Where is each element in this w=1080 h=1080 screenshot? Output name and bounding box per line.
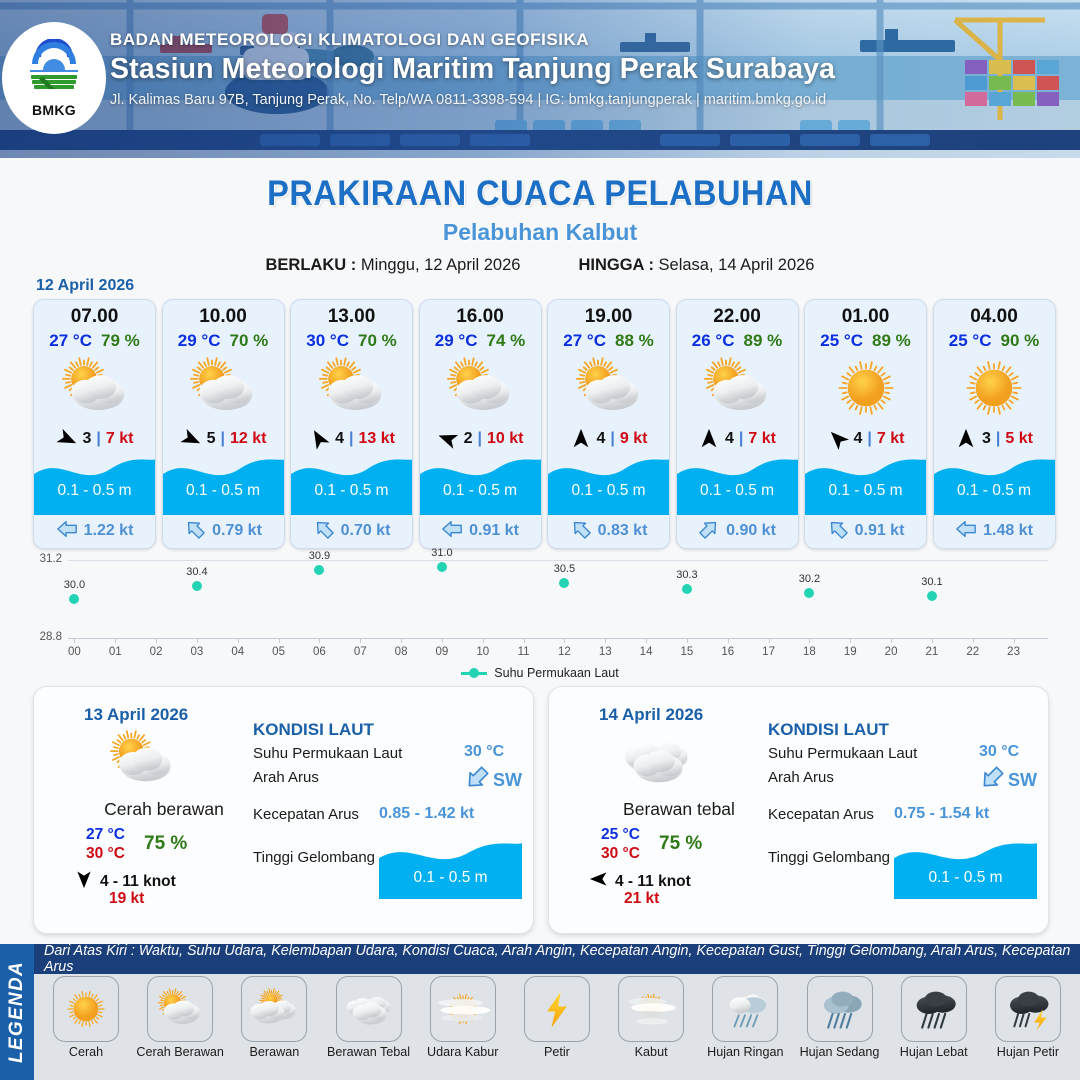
x-axis-tick-label: 04 <box>231 646 244 658</box>
x-axis-tick-label: 07 <box>354 646 367 658</box>
card-divider: | <box>996 430 1000 448</box>
data-point <box>69 594 79 604</box>
panel-wave-value: 0.1 - 0.5 m <box>894 869 1037 887</box>
panel-sea-title: KONDISI LAUT <box>768 720 889 740</box>
current-arrow-icon <box>979 765 1005 796</box>
card-time: 01.00 <box>805 306 926 328</box>
card-humidity: 88 % <box>615 331 654 351</box>
x-axis-tick <box>809 638 810 643</box>
legend-item-label: Cerah Berawan <box>136 1046 224 1059</box>
current-arrow-icon <box>698 518 720 545</box>
current-arrow-icon <box>570 518 592 545</box>
current-arrow-icon <box>464 765 490 796</box>
cerah-berawan-icon <box>291 353 412 424</box>
panel-current-dir-value: SW <box>464 765 522 796</box>
panel-gust: 19 kt <box>109 890 144 908</box>
wind-arrow-icon <box>955 428 977 450</box>
card-wind-row: 2 | 10 kt <box>420 424 541 454</box>
x-axis-tick-label: 09 <box>436 646 449 658</box>
legend-item-label: Hujan Sedang <box>800 1046 880 1059</box>
data-point <box>437 562 447 572</box>
card-temperature: 29 °C <box>178 331 221 351</box>
hujan-ringan-icon <box>712 976 778 1042</box>
card-time: 22.00 <box>677 306 798 328</box>
legend-item-label: Cerah <box>69 1046 103 1059</box>
panel-gust: 21 kt <box>624 890 659 908</box>
x-axis-tick <box>115 638 116 643</box>
wind-arrow-icon <box>827 428 849 450</box>
legend-item-label: Hujan Petir <box>997 1046 1059 1059</box>
valid-to: HINGGA : Selasa, 14 April 2026 <box>578 256 814 275</box>
card-wave-band: 0.1 - 0.5 m <box>805 453 926 514</box>
x-axis-tick-label: 21 <box>926 646 939 658</box>
card-wind-scale: 3 <box>982 430 991 448</box>
card-time: 07.00 <box>34 306 155 328</box>
legend-item: Hujan Lebat <box>888 976 980 1059</box>
x-axis-tick <box>279 638 280 643</box>
x-axis-tick <box>1014 638 1015 643</box>
wind-arrow-icon <box>698 428 720 450</box>
card-current-row: 0.91 kt <box>420 515 541 548</box>
header-text-block: BADAN METEOROLOGI KLIMATOLOGI DAN GEOFIS… <box>110 30 835 108</box>
card-wave-band: 0.1 - 0.5 m <box>548 453 669 514</box>
card-humidity: 89 % <box>743 331 782 351</box>
legend-item-label: Hujan Ringan <box>707 1046 783 1059</box>
x-axis-tick <box>442 638 443 643</box>
legend-item: Udara Kabur <box>417 976 509 1059</box>
hourly-card: 13.00 30 °C 70 % 4 | 13 kt 0.1 - 0.5 m 0… <box>290 299 413 549</box>
valid-from-label: BERLAKU : <box>266 256 357 274</box>
petir-icon <box>524 976 590 1042</box>
x-axis-tick-label: 10 <box>476 646 489 658</box>
card-current-speed: 0.70 kt <box>341 522 391 540</box>
card-temperature: 27 °C <box>49 331 92 351</box>
x-axis-tick <box>360 638 361 643</box>
panel-wave-value: 0.1 - 0.5 m <box>379 869 522 887</box>
cerah-berawan-icon <box>163 353 284 424</box>
wind-arrow-icon <box>570 428 592 450</box>
berawan-tebal-icon <box>336 976 402 1042</box>
daily-forecast-panel: 14 April 2026 Berawan tebal 25 °C 30 °C … <box>548 686 1049 934</box>
data-point <box>682 584 692 594</box>
card-humidity: 70 % <box>229 331 268 351</box>
data-point-label: 30.4 <box>186 566 207 578</box>
card-temperature: 25 °C <box>820 331 863 351</box>
card-wind-scale: 4 <box>725 430 734 448</box>
panel-date: 14 April 2026 <box>599 705 703 725</box>
panel-current-speed-value: 0.85 - 1.42 kt <box>379 805 474 823</box>
card-current-speed: 1.48 kt <box>983 522 1033 540</box>
card-wave-height: 0.1 - 0.5 m <box>34 482 155 500</box>
x-axis-tick-label: 20 <box>885 646 898 658</box>
title-section: PRAKIRAAN CUACA PELABUHAN Pelabuhan Kalb… <box>0 158 1080 275</box>
x-axis-tick-label: 15 <box>681 646 694 658</box>
card-temp-humidity: 29 °C 70 % <box>163 331 284 351</box>
legend-item: Hujan Ringan <box>699 976 791 1059</box>
card-wave-height: 0.1 - 0.5 m <box>548 482 669 500</box>
legend-item: Hujan Sedang <box>794 976 886 1059</box>
x-axis-tick <box>728 638 729 643</box>
data-point-label: 30.1 <box>921 576 942 588</box>
card-wind-row: 4 | 9 kt <box>548 424 669 454</box>
card-gust: 9 kt <box>620 430 648 448</box>
x-axis-tick <box>769 638 770 643</box>
x-axis-tick <box>646 638 647 643</box>
panel-sea-title: KONDISI LAUT <box>253 720 374 740</box>
card-gust: 10 kt <box>487 430 523 448</box>
cerah-berawan-icon <box>92 729 192 791</box>
x-axis-line <box>68 638 1048 639</box>
chart-legend-label: Suhu Permukaan Laut <box>494 666 618 680</box>
berawan-tebal-icon <box>607 729 707 791</box>
panel-wave-label: Tinggi Gelombang <box>253 849 375 866</box>
x-axis-tick-label: 16 <box>721 646 734 658</box>
card-current-speed: 0.91 kt <box>855 522 905 540</box>
valid-to-label: HINGGA : <box>578 256 653 274</box>
card-current-row: 1.48 kt <box>934 515 1055 548</box>
card-divider: | <box>477 430 481 448</box>
panel-humidity: 75 % <box>144 833 187 855</box>
card-wind-scale: 4 <box>597 430 606 448</box>
card-current-speed: 0.83 kt <box>598 522 648 540</box>
x-axis-tick <box>687 638 688 643</box>
hourly-card: 07.00 27 °C 79 % 3 | 7 kt 0.1 - 0.5 m 1.… <box>33 299 156 549</box>
card-current-row: 0.83 kt <box>548 515 669 548</box>
berawan-icon <box>241 976 307 1042</box>
wind-arrow-icon <box>56 428 78 450</box>
card-time: 04.00 <box>934 306 1055 328</box>
x-axis-tick <box>605 638 606 643</box>
card-wind-row: 5 | 12 kt <box>163 424 284 454</box>
wind-arrow-icon <box>74 869 94 894</box>
card-divider: | <box>610 430 614 448</box>
card-temperature: 29 °C <box>435 331 478 351</box>
current-arrow-icon <box>56 518 78 545</box>
legend-item-label: Hujan Lebat <box>900 1046 968 1059</box>
card-wave-height: 0.1 - 0.5 m <box>291 482 412 500</box>
card-temp-humidity: 27 °C 79 % <box>34 331 155 351</box>
card-wave-height: 0.1 - 0.5 m <box>677 482 798 500</box>
wind-arrow-icon <box>589 869 609 894</box>
legend-side-label: LEGENDA <box>6 961 28 1063</box>
card-divider: | <box>867 430 871 448</box>
x-axis-tick <box>850 638 851 643</box>
card-wave-band: 0.1 - 0.5 m <box>34 453 155 514</box>
chart-legend-marker-icon <box>461 668 487 678</box>
x-axis-tick-label: 23 <box>1007 646 1020 658</box>
card-current-speed: 0.91 kt <box>469 522 519 540</box>
cerah-berawan-icon <box>420 353 541 424</box>
card-divider: | <box>739 430 743 448</box>
card-current-row: 1.22 kt <box>34 515 155 548</box>
cerah-berawan-icon <box>677 353 798 424</box>
legend-item: Cerah Berawan <box>134 976 226 1059</box>
card-wind-scale: 3 <box>83 430 92 448</box>
legend-item: Berawan <box>228 976 320 1059</box>
card-temp-humidity: 30 °C 70 % <box>291 331 412 351</box>
x-axis-tick-label: 12 <box>558 646 571 658</box>
panel-temperatures: 25 °C 30 °C <box>601 825 640 863</box>
card-current-speed: 1.22 kt <box>84 522 134 540</box>
panel-wave-label: Tinggi Gelombang <box>768 849 890 866</box>
hourly-day-label: 12 April 2026 <box>36 277 134 295</box>
data-point-label: 30.2 <box>799 573 820 585</box>
hourly-forecast-strip: 07.00 27 °C 79 % 3 | 7 kt 0.1 - 0.5 m 1.… <box>33 299 1056 549</box>
panel-wind-range: 4 - 11 knot <box>615 873 691 891</box>
bmkg-logo: BMKG <box>2 22 106 134</box>
card-temperature: 27 °C <box>563 331 606 351</box>
card-divider: | <box>96 430 100 448</box>
legend-caption: Dari Atas Kiri : Waktu, Suhu Udara, Kele… <box>34 944 1080 974</box>
hujan-sedang-icon <box>807 976 873 1042</box>
card-temperature: 30 °C <box>306 331 349 351</box>
panel-sst-value: 30 °C <box>979 743 1019 761</box>
hujan-lebat-icon <box>901 976 967 1042</box>
card-gust: 13 kt <box>358 430 394 448</box>
card-time: 19.00 <box>548 306 669 328</box>
current-arrow-icon <box>441 518 463 545</box>
x-axis-tick <box>564 638 565 643</box>
cerah-berawan-icon <box>548 353 669 424</box>
x-axis-tick-label: 17 <box>762 646 775 658</box>
card-gust: 5 kt <box>1005 430 1033 448</box>
daily-forecast-panels: 13 April 2026 Cerah berawan 27 °C 30 °C … <box>33 686 1049 934</box>
x-axis-tick <box>197 638 198 643</box>
card-current-speed: 0.79 kt <box>212 522 262 540</box>
card-divider: | <box>220 430 224 448</box>
card-current-speed: 0.90 kt <box>726 522 776 540</box>
card-temp-humidity: 27 °C 88 % <box>548 331 669 351</box>
valid-from-value: Minggu, 12 April 2026 <box>361 256 521 274</box>
daily-forecast-panel: 13 April 2026 Cerah berawan 27 °C 30 °C … <box>33 686 534 934</box>
current-arrow-icon <box>955 518 977 545</box>
legend-items: Cerah Cerah Berawan Berawan Berawan Teba… <box>34 976 1080 1059</box>
card-temp-humidity: 26 °C 89 % <box>677 331 798 351</box>
card-time: 13.00 <box>291 306 412 328</box>
x-axis-tick <box>524 638 525 643</box>
x-axis-tick-label: 05 <box>272 646 285 658</box>
card-humidity: 79 % <box>101 331 140 351</box>
data-point-label: 30.0 <box>64 579 85 591</box>
panel-current-speed-label: Kecepatan Arus <box>253 806 359 823</box>
validity-range: BERLAKU : Minggu, 12 April 2026 HINGGA :… <box>0 256 1080 275</box>
station-name: Stasiun Meteorologi Maritim Tanjung Pera… <box>110 53 835 86</box>
y-axis-label-min: 28.8 <box>20 631 62 643</box>
card-wind-row: 4 | 7 kt <box>677 424 798 454</box>
data-point-label: 30.3 <box>676 569 697 581</box>
card-temp-humidity: 25 °C 90 % <box>934 331 1055 351</box>
contact-info: Jl. Kalimas Baru 97B, Tanjung Perak, No.… <box>110 92 835 108</box>
card-wind-scale: 4 <box>854 430 863 448</box>
panel-current-dir-label: Arah Arus <box>768 769 834 786</box>
page-title: PRAKIRAAN CUACA PELABUHAN <box>38 174 1042 214</box>
wind-arrow-icon <box>180 428 202 450</box>
card-wave-height: 0.1 - 0.5 m <box>163 482 284 500</box>
cerah-icon <box>53 976 119 1042</box>
legend-item-label: Kabut <box>635 1046 668 1059</box>
hourly-card: 10.00 29 °C 70 % 5 | 12 kt 0.1 - 0.5 m 0… <box>162 299 285 549</box>
data-point-label: 30.9 <box>309 550 330 562</box>
x-axis-tick-label: 11 <box>518 646 530 658</box>
card-temperature: 26 °C <box>692 331 735 351</box>
legend-item-label: Berawan Tebal <box>327 1046 410 1059</box>
agency-name: BADAN METEOROLOGI KLIMATOLOGI DAN GEOFIS… <box>110 30 835 50</box>
cerah-icon <box>805 353 926 424</box>
card-temp-humidity: 25 °C 89 % <box>805 331 926 351</box>
card-gust: 7 kt <box>748 430 776 448</box>
card-humidity: 89 % <box>872 331 911 351</box>
x-axis-tick <box>74 638 75 643</box>
card-humidity: 70 % <box>358 331 397 351</box>
card-wave-height: 0.1 - 0.5 m <box>934 482 1055 500</box>
x-axis-tick <box>932 638 933 643</box>
chart-legend: Suhu Permukaan Laut <box>20 666 1060 680</box>
valid-to-value: Selasa, 14 April 2026 <box>659 256 815 274</box>
panel-temperatures: 27 °C 30 °C <box>86 825 125 863</box>
card-gust: 7 kt <box>877 430 905 448</box>
data-point <box>314 565 324 575</box>
legend-section: LEGENDA Dari Atas Kiri : Waktu, Suhu Uda… <box>0 944 1080 1080</box>
legend-item: Cerah <box>40 976 132 1059</box>
x-axis-tick-label: 18 <box>803 646 816 658</box>
card-wave-band: 0.1 - 0.5 m <box>291 453 412 514</box>
x-axis-tick-label: 22 <box>966 646 979 658</box>
legend-item: Kabut <box>605 976 697 1059</box>
card-temp-humidity: 29 °C 74 % <box>420 331 541 351</box>
panel-temp-max: 30 °C <box>86 844 125 863</box>
legend-side-bar: LEGENDA <box>0 944 34 1080</box>
x-axis-tick-label: 02 <box>150 646 163 658</box>
x-axis-tick <box>891 638 892 643</box>
hujan-petir-icon <box>995 976 1061 1042</box>
current-arrow-icon <box>184 518 206 545</box>
card-wind-scale: 4 <box>335 430 344 448</box>
card-temperature: 25 °C <box>949 331 992 351</box>
card-wave-height: 0.1 - 0.5 m <box>805 482 926 500</box>
x-axis-tick <box>483 638 484 643</box>
panel-wave-band: 0.1 - 0.5 m <box>894 837 1037 899</box>
cerah-berawan-icon <box>147 976 213 1042</box>
port-name: Pelabuhan Kalbut <box>0 219 1080 246</box>
hourly-card: 04.00 25 °C 90 % 3 | 5 kt 0.1 - 0.5 m 1.… <box>933 299 1056 549</box>
card-current-row: 0.70 kt <box>291 515 412 548</box>
panel-current-dir-value: SW <box>979 765 1037 796</box>
card-time: 16.00 <box>420 306 541 328</box>
card-wind-row: 4 | 13 kt <box>291 424 412 454</box>
x-axis-tick <box>238 638 239 643</box>
x-axis-tick-label: 00 <box>68 646 81 658</box>
hourly-card: 22.00 26 °C 89 % 4 | 7 kt 0.1 - 0.5 m 0.… <box>676 299 799 549</box>
panel-current-speed-label: Kecepatan Arus <box>768 806 874 823</box>
x-axis-tick-label: 08 <box>395 646 408 658</box>
data-point <box>804 588 814 598</box>
kabut-icon <box>618 976 684 1042</box>
card-wave-band: 0.1 - 0.5 m <box>420 453 541 514</box>
x-axis-tick <box>156 638 157 643</box>
card-gust: 7 kt <box>106 430 134 448</box>
card-wind-row: 4 | 7 kt <box>805 424 926 454</box>
card-wind-row: 3 | 7 kt <box>34 424 155 454</box>
panel-temp-min: 25 °C <box>601 825 640 844</box>
x-axis-tick-label: 14 <box>640 646 653 658</box>
data-point-label: 30.5 <box>554 563 575 575</box>
page-header: BMKG BADAN METEOROLOGI KLIMATOLOGI DAN G… <box>0 0 1080 158</box>
panel-wind-range: 4 - 11 knot <box>100 873 176 891</box>
card-gust: 12 kt <box>230 430 266 448</box>
cerah-berawan-icon <box>34 353 155 424</box>
wind-arrow-icon <box>308 428 330 450</box>
x-axis-tick-label: 01 <box>109 646 122 658</box>
x-axis-tick-label: 03 <box>191 646 204 658</box>
card-current-row: 0.90 kt <box>677 515 798 548</box>
hourly-card: 19.00 27 °C 88 % 4 | 9 kt 0.1 - 0.5 m 0.… <box>547 299 670 549</box>
card-current-row: 0.79 kt <box>163 515 284 548</box>
panel-temp-min: 27 °C <box>86 825 125 844</box>
bmkg-logo-mark <box>23 39 85 101</box>
card-humidity: 90 % <box>1000 331 1039 351</box>
card-wave-band: 0.1 - 0.5 m <box>677 453 798 514</box>
hourly-card: 01.00 25 °C 89 % 4 | 7 kt 0.1 - 0.5 m 0.… <box>804 299 927 549</box>
card-humidity: 74 % <box>486 331 525 351</box>
sst-chart: 31.228.800010203040506070809101112131415… <box>20 556 1060 682</box>
panel-current-speed-value: 0.75 - 1.54 kt <box>894 805 989 823</box>
card-current-row: 0.91 kt <box>805 515 926 548</box>
card-wave-band: 0.1 - 0.5 m <box>163 453 284 514</box>
data-point <box>192 581 202 591</box>
legend-item-label: Petir <box>544 1046 570 1059</box>
x-axis-tick <box>973 638 974 643</box>
panel-wave-band: 0.1 - 0.5 m <box>379 837 522 899</box>
panel-sst-label: Suhu Permukaan Laut <box>253 745 402 762</box>
gridline-top <box>68 560 1048 561</box>
legend-item: Hujan Petir <box>982 976 1074 1059</box>
x-axis-tick-label: 19 <box>844 646 857 658</box>
card-wave-height: 0.1 - 0.5 m <box>420 482 541 500</box>
panel-date: 13 April 2026 <box>84 705 188 725</box>
card-wind-row: 3 | 5 kt <box>934 424 1055 454</box>
current-arrow-icon <box>827 518 849 545</box>
legend-item: Berawan Tebal <box>323 976 415 1059</box>
card-wind-scale: 5 <box>207 430 216 448</box>
y-axis-label-max: 31.2 <box>20 553 62 565</box>
data-point <box>559 578 569 588</box>
wind-arrow-icon <box>437 428 459 450</box>
x-axis-tick-label: 13 <box>599 646 612 658</box>
cerah-icon <box>934 353 1055 424</box>
panel-sst-value: 30 °C <box>464 743 504 761</box>
data-point-label: 31.0 <box>431 547 452 559</box>
legend-item-label: Berawan <box>250 1046 300 1059</box>
card-wave-band: 0.1 - 0.5 m <box>934 453 1055 514</box>
legend-item: Petir <box>511 976 603 1059</box>
legend-item-label: Udara Kabur <box>427 1046 498 1059</box>
x-axis-tick <box>401 638 402 643</box>
card-divider: | <box>349 430 353 448</box>
panel-sst-label: Suhu Permukaan Laut <box>768 745 917 762</box>
bmkg-logo-text: BMKG <box>32 102 76 118</box>
card-wind-scale: 2 <box>464 430 473 448</box>
panel-condition: Berawan tebal <box>579 799 779 820</box>
panel-condition: Cerah berawan <box>64 799 264 820</box>
valid-from: BERLAKU : Minggu, 12 April 2026 <box>266 256 521 275</box>
current-arrow-icon <box>313 518 335 545</box>
x-axis-tick-label: 06 <box>313 646 326 658</box>
data-point <box>927 591 937 601</box>
panel-humidity: 75 % <box>659 833 702 855</box>
udara-kabur-icon <box>430 976 496 1042</box>
card-time: 10.00 <box>163 306 284 328</box>
x-axis-tick <box>319 638 320 643</box>
